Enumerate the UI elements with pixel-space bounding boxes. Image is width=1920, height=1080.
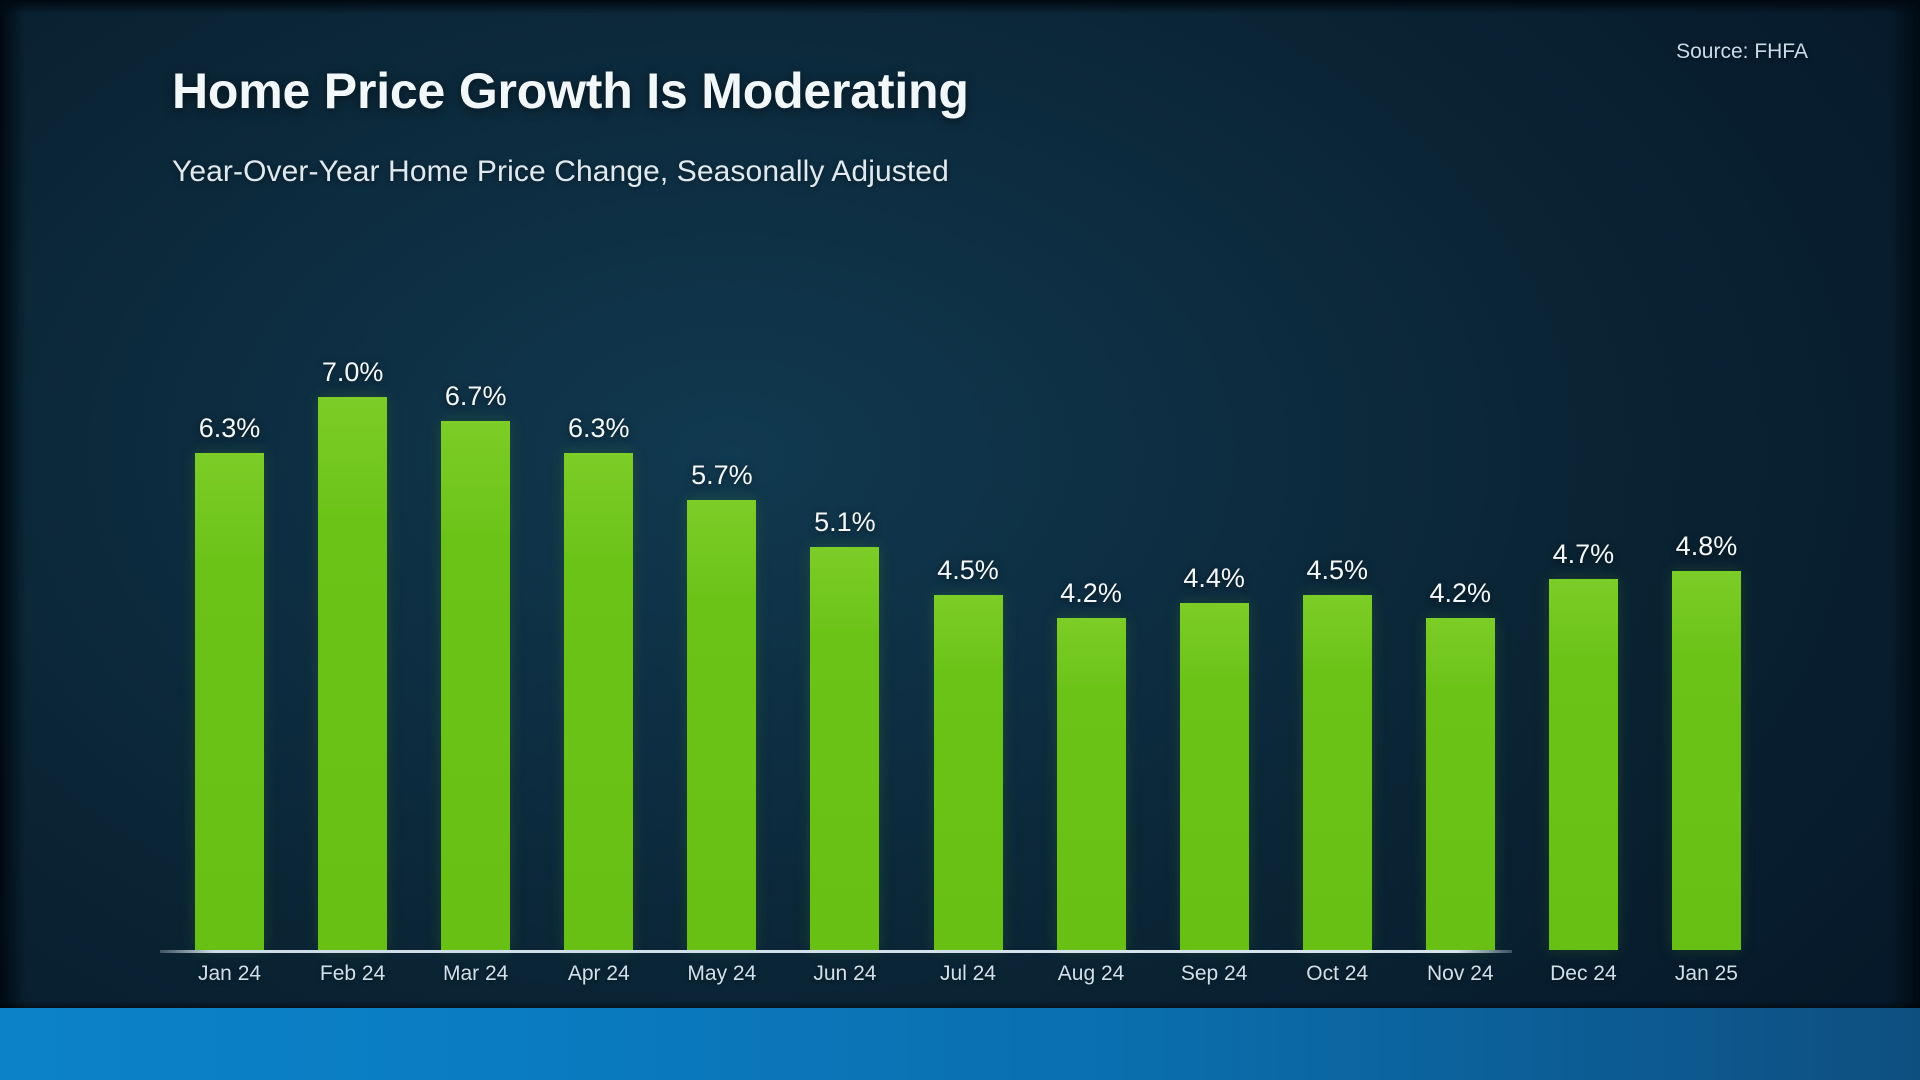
bar-slot: 6.3% — [564, 255, 633, 950]
bar[interactable] — [1426, 618, 1495, 950]
bar-slot: 6.3% — [195, 255, 264, 950]
x-axis-tick-label: Feb 24 — [291, 962, 414, 986]
x-axis-line — [160, 950, 1512, 953]
bar-value-label: 5.7% — [691, 460, 753, 491]
x-axis-tick-label: Jun 24 — [783, 962, 906, 986]
bar-value-label: 4.2% — [1060, 578, 1122, 609]
bar[interactable] — [564, 453, 633, 950]
bar-slot: 4.2% — [1057, 255, 1126, 950]
bar-slot: 4.5% — [1303, 255, 1372, 950]
x-axis-tick-label: Jan 24 — [168, 962, 291, 986]
page-subtitle: Year-Over-Year Home Price Change, Season… — [172, 155, 949, 189]
slide-edge-right — [1890, 0, 1920, 1080]
bar-chart-plot-area: 6.3%7.0%6.7%6.3%5.7%5.1%4.5%4.2%4.4%4.5%… — [168, 255, 1768, 950]
bar-slot: 7.0% — [318, 255, 387, 950]
bar-value-label: 4.5% — [937, 555, 999, 586]
x-axis-tick-label: Oct 24 — [1276, 962, 1399, 986]
bar[interactable] — [318, 397, 387, 950]
footer-band-shadow — [0, 1000, 1920, 1008]
footer-band — [0, 1008, 1920, 1080]
bar-value-label: 4.5% — [1306, 555, 1368, 586]
bar-value-label: 6.3% — [568, 413, 630, 444]
x-axis-tick-label: Mar 24 — [414, 962, 537, 986]
bar-value-label: 4.2% — [1430, 578, 1492, 609]
bar-slot: 4.4% — [1180, 255, 1249, 950]
bar-slot: 4.8% — [1672, 255, 1741, 950]
bar[interactable] — [810, 547, 879, 950]
x-axis-tick-label: Jul 24 — [906, 962, 1029, 986]
bar[interactable] — [441, 421, 510, 950]
slide-edge-top — [0, 0, 1920, 14]
bar-value-label: 4.4% — [1183, 563, 1245, 594]
bar[interactable] — [687, 500, 756, 950]
bar-value-label: 6.7% — [445, 381, 507, 412]
bar[interactable] — [195, 453, 264, 950]
bar[interactable] — [1057, 618, 1126, 950]
bar[interactable] — [934, 595, 1003, 950]
x-axis-tick-label: Nov 24 — [1399, 962, 1522, 986]
bar-slot: 4.5% — [934, 255, 1003, 950]
page-title: Home Price Growth Is Moderating — [172, 62, 969, 120]
x-axis-tick-label: May 24 — [660, 962, 783, 986]
x-axis-tick-labels: Jan 24Feb 24Mar 24Apr 24May 24Jun 24Jul … — [168, 962, 1768, 1002]
bar-value-label: 6.3% — [199, 413, 261, 444]
x-axis-tick-label: Jan 25 — [1645, 962, 1768, 986]
source-attribution: Source: FHFA — [1676, 40, 1808, 64]
x-axis-tick-label: Dec 24 — [1522, 962, 1645, 986]
bar-value-label: 4.7% — [1553, 539, 1615, 570]
slide-screenshot: Home Price Growth Is Moderating Year-Ove… — [0, 0, 1920, 1080]
x-axis-tick-label: Sep 24 — [1153, 962, 1276, 986]
bar-value-label: 5.1% — [814, 507, 876, 538]
bar-slot: 5.7% — [687, 255, 756, 950]
bar-value-label: 7.0% — [322, 357, 384, 388]
x-axis-tick-label: Apr 24 — [537, 962, 660, 986]
x-axis-tick-label: Aug 24 — [1030, 962, 1153, 986]
bar[interactable] — [1672, 571, 1741, 950]
slide-edge-left — [0, 0, 26, 1080]
bar-slot: 4.7% — [1549, 255, 1618, 950]
bar-slot: 6.7% — [441, 255, 510, 950]
bar[interactable] — [1180, 603, 1249, 950]
bar[interactable] — [1303, 595, 1372, 950]
bar-slot: 5.1% — [810, 255, 879, 950]
bar-slot: 4.2% — [1426, 255, 1495, 950]
bar-value-label: 4.8% — [1676, 531, 1738, 562]
bar[interactable] — [1549, 579, 1618, 950]
